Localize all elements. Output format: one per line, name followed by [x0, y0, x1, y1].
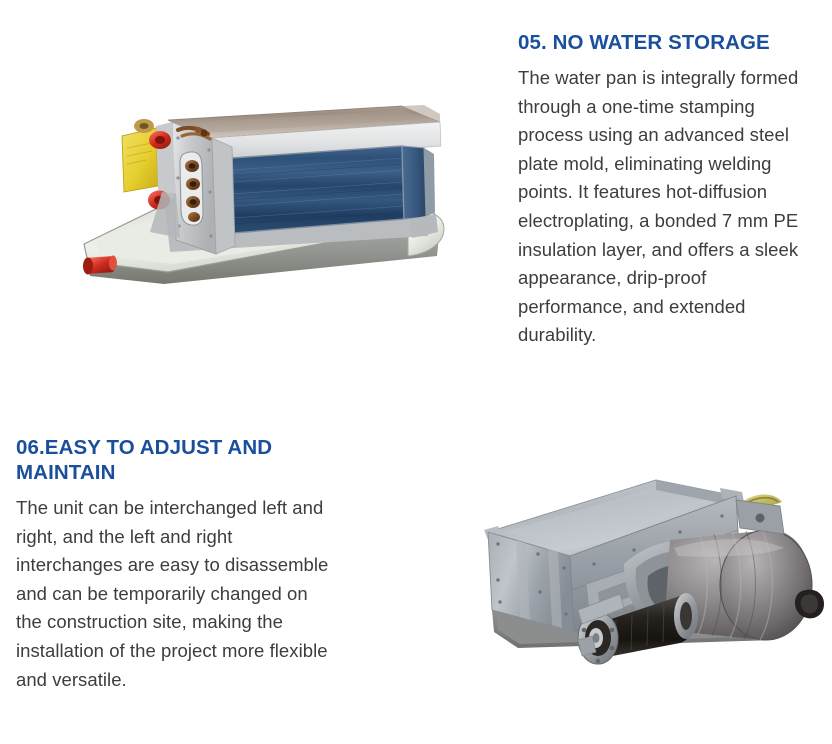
drain-outlet-cap: [83, 256, 117, 275]
feature-block-05: 05. NO WATER STORAGE The water pan is in…: [518, 30, 818, 350]
heat-exchanger-coil: [232, 146, 404, 233]
feature-section-page: 05. NO WATER STORAGE The water pan is in…: [0, 0, 832, 744]
blower-motor-assembly-image: [474, 444, 826, 668]
feature-05-heading: 05. NO WATER STORAGE: [518, 30, 818, 55]
feature-06-body: The unit can be interchanged left and ri…: [16, 494, 336, 694]
feature-06-heading: 06.EASY TO ADJUST AND MAINTAIN: [16, 435, 336, 485]
concealed-duct-fan-coil-unit-image: [72, 86, 448, 298]
feature-block-06: 06.EASY TO ADJUST AND MAINTAIN The unit …: [16, 435, 336, 694]
feature-05-body: The water pan is integrally formed throu…: [518, 64, 818, 350]
